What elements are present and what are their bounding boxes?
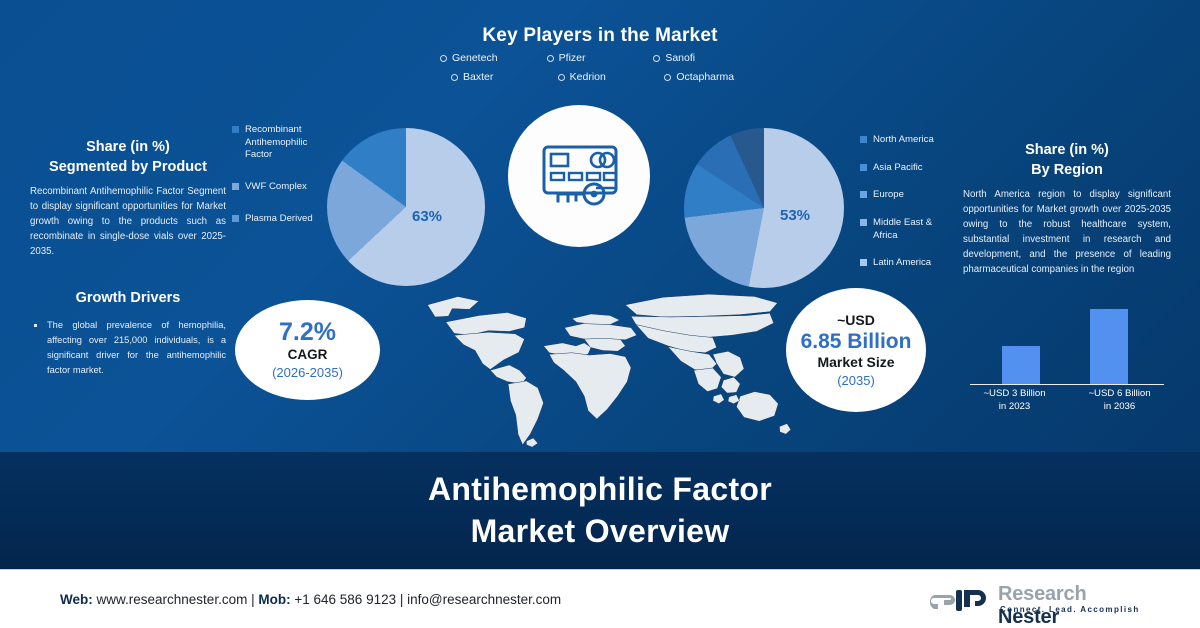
circle-bullet-icon <box>440 55 447 62</box>
key-player-item: Kedrion <box>547 71 654 83</box>
region-share-section: Share (in %) By Region North America reg… <box>963 141 1171 277</box>
market-size-stat-circle: ~USD 6.85 Billion Market Size (2035) <box>786 288 926 412</box>
cagr-label: CAGR <box>288 346 328 364</box>
product-share-heading: Share (in %) Segmented by Product <box>30 138 226 177</box>
legend-label: Plasma Derived <box>245 213 313 226</box>
legend-label: Recombinant Antihemophilic Factor <box>245 124 324 162</box>
bar-group <box>962 304 1172 384</box>
key-players-list: Genetech Pfizer Sanofi Baxter Kedrion Oc… <box>440 52 760 83</box>
legend-label: VWF Complex <box>245 181 307 194</box>
market-size-prefix: ~USD <box>837 311 875 330</box>
legend-item: Latin America <box>860 257 958 270</box>
legend-swatch-icon <box>232 126 239 133</box>
market-size-year: (2035) <box>837 372 875 390</box>
page-title: Antihemophilic Factor Market Overview <box>0 468 1200 552</box>
legend-item: VWF Complex <box>232 181 324 194</box>
legend-item: Asia Pacific <box>860 162 958 175</box>
region-share-pie-chart <box>684 128 844 288</box>
bar-label-2036-line2: in 2036 <box>1067 401 1172 414</box>
legend-label: Europe <box>873 189 904 202</box>
circle-bullet-icon <box>664 74 671 81</box>
credit-card-key-icon <box>508 122 650 230</box>
product-share-heading-line2: Segmented by Product <box>30 158 226 178</box>
product-pie-value-label: 63% <box>412 208 442 225</box>
product-share-pie-chart <box>327 128 485 286</box>
key-player-item: Pfizer <box>547 52 654 64</box>
legend-swatch-icon <box>860 191 867 198</box>
bar-label-2023: ~USD 3 Billion in 2023 <box>962 388 1067 414</box>
key-player-label: Baxter <box>463 71 493 83</box>
bar-label-2036: ~USD 6 Billion in 2036 <box>1067 388 1172 414</box>
legend-item: Middle East & Africa <box>860 217 958 242</box>
key-player-item: Baxter <box>440 71 547 83</box>
legend-item: Europe <box>860 189 958 202</box>
growth-drivers-section: Growth Drivers The global prevalence of … <box>30 290 226 378</box>
legend-label: Latin America <box>873 257 931 270</box>
infographic-canvas: Key Players in the Market Genetech Pfize… <box>0 0 1200 628</box>
product-share-heading-line1: Share (in %) <box>30 138 226 158</box>
cagr-period: (2026-2035) <box>272 364 343 382</box>
legend-item: North America <box>860 134 958 147</box>
legend-swatch-icon <box>860 136 867 143</box>
region-pie-legend: North America Asia Pacific Europe Middle… <box>860 134 958 285</box>
logo-word-research: Research <box>998 583 1086 605</box>
legend-swatch-icon <box>232 215 239 222</box>
bar-chart-axis <box>970 384 1164 386</box>
circle-bullet-icon <box>558 74 565 81</box>
cagr-value: 7.2% <box>279 319 336 347</box>
footer-email-value[interactable]: info@researchnester.com <box>407 592 561 607</box>
growth-drivers-list: The global prevalence of hemophilia, aff… <box>30 318 226 378</box>
bar-chart-labels: ~USD 3 Billion in 2023 ~USD 6 Billion in… <box>962 388 1172 414</box>
key-players-title: Key Players in the Market <box>0 25 1200 47</box>
key-player-label: Kedrion <box>570 71 606 83</box>
product-share-section: Share (in %) Segmented by Product Recomb… <box>30 138 226 259</box>
footer-web-label: Web: <box>60 592 93 607</box>
legend-item: Plasma Derived <box>232 213 324 226</box>
footer-contact: Web: www.researchnester.com | Mob: +1 64… <box>60 592 561 607</box>
bar-label-2023-line1: ~USD 3 Billion <box>962 388 1067 401</box>
key-player-label: Octapharma <box>676 71 734 83</box>
legend-swatch-icon <box>860 259 867 266</box>
key-player-item: Octapharma <box>653 71 760 83</box>
key-player-label: Sanofi <box>665 52 695 64</box>
legend-swatch-icon <box>232 183 239 190</box>
circle-bullet-icon <box>653 55 660 62</box>
bar-2023 <box>1002 346 1040 384</box>
circle-bullet-icon <box>547 55 554 62</box>
key-player-item: Genetech <box>440 52 547 64</box>
market-growth-bar-chart: ~USD 3 Billion in 2023 ~USD 6 Billion in… <box>962 300 1172 410</box>
key-player-label: Genetech <box>452 52 498 64</box>
legend-label: North America <box>873 134 934 147</box>
region-share-heading-line1: Share (in %) <box>963 141 1171 161</box>
footer-web-value[interactable]: www.researchnester.com <box>97 592 248 607</box>
market-size-value: 6.85 Billion <box>801 330 912 353</box>
key-player-label: Pfizer <box>559 52 586 64</box>
key-player-item: Sanofi <box>653 52 760 64</box>
footer-separator: | <box>400 592 404 607</box>
footer-divider <box>0 569 1200 570</box>
page-title-line2: Market Overview <box>0 510 1200 552</box>
bar-2036 <box>1090 309 1128 384</box>
bar-label-2023-line2: in 2023 <box>962 401 1067 414</box>
legend-label: Middle East & Africa <box>873 217 958 242</box>
footer-mob-value[interactable]: +1 646 586 9123 <box>294 592 396 607</box>
legend-swatch-icon <box>860 164 867 171</box>
page-title-line1: Antihemophilic Factor <box>0 468 1200 510</box>
region-pie-value-label: 53% <box>780 207 810 224</box>
product-share-body: Recombinant Antihemophilic Factor Segmen… <box>30 184 226 259</box>
product-pie-legend: Recombinant Antihemophilic Factor VWF Co… <box>232 124 324 244</box>
legend-label: Asia Pacific <box>873 162 923 175</box>
research-nester-logo-icon: Research Nester Connect. Lead. Accomplis… <box>930 584 1142 620</box>
market-size-label: Market Size <box>817 353 894 372</box>
logo-tagline: Connect. Lead. Accomplish <box>1000 605 1140 614</box>
circle-bullet-icon <box>451 74 458 81</box>
region-share-body: North America region to display signific… <box>963 187 1171 277</box>
growth-driver-item: The global prevalence of hemophilia, aff… <box>30 318 226 378</box>
footer-mob-label: Mob: <box>258 592 290 607</box>
cagr-stat-circle: 7.2% CAGR (2026-2035) <box>235 300 380 400</box>
footer-separator: | <box>251 592 255 607</box>
legend-item: Recombinant Antihemophilic Factor <box>232 124 324 162</box>
legend-swatch-icon <box>860 219 867 226</box>
region-share-heading-line2: By Region <box>963 161 1171 181</box>
bar-label-2036-line1: ~USD 6 Billion <box>1067 388 1172 401</box>
region-share-heading: Share (in %) By Region <box>963 141 1171 180</box>
growth-drivers-heading: Growth Drivers <box>30 290 226 306</box>
